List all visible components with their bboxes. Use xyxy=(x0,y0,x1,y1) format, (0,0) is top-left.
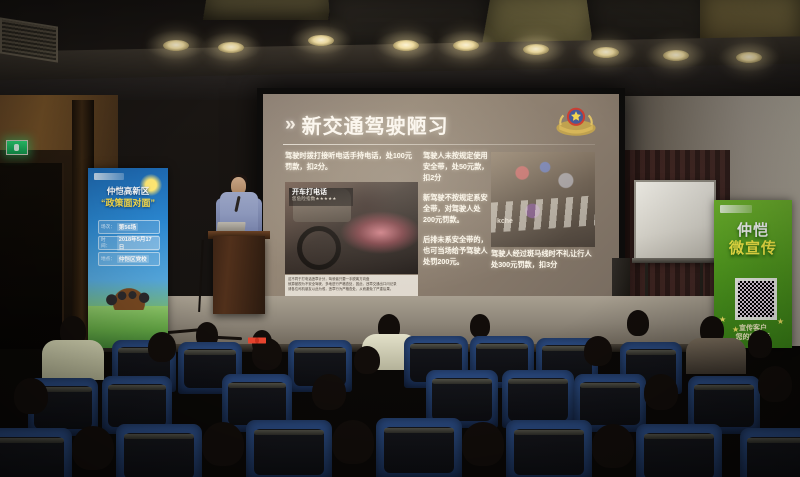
banner-left-title: 仲恺高新区 “政策面对面” xyxy=(88,186,168,210)
banner-field-value: 仲恺区党校 xyxy=(117,255,149,263)
photo-caption-main: 开车打电话 xyxy=(292,189,350,196)
seat-back xyxy=(580,382,639,425)
photo-caption-box: 开车打电话 您危险指数★★★★★ xyxy=(289,188,353,206)
seat-back xyxy=(254,429,325,475)
seat-headrest-band xyxy=(410,344,462,349)
ceiling-light-icon xyxy=(663,50,689,61)
audience-area xyxy=(0,300,800,477)
audience-head xyxy=(592,424,634,468)
seat-headrest-band xyxy=(508,379,567,384)
seat-headrest-band xyxy=(254,430,325,436)
slide-title: 新交通驾驶陋习 xyxy=(302,110,449,139)
ceiling-light-icon xyxy=(453,40,479,51)
photo-caption-sub: 您危险指数★★★★★ xyxy=(292,196,350,203)
slide-column-left: 驾驶时拨打接听电话手持电话，处100元罚款，扣2分。 xyxy=(285,151,418,182)
seat-headrest-band xyxy=(514,430,585,436)
slide-text-seatbelt-2: 新驾驶不按规定系安全带，对驾驶人处200元罚款。 xyxy=(423,193,491,226)
seat-headrest-band xyxy=(124,434,195,440)
banner-field-value: 第56场 xyxy=(117,223,138,231)
audience-head xyxy=(72,426,114,470)
footnote-line: 请各位司机朋友以此为戒，违章行为严格查处，从而避免了严重后果。 xyxy=(288,287,415,292)
audience-head xyxy=(354,346,380,374)
slide-title-divider xyxy=(283,144,595,145)
slide-text-phone-penalty: 驾驶时拨打接听电话手持电话，处100元罚款，扣2分。 xyxy=(285,151,418,173)
banner-field-venue: 地点： 仲恺区党校 xyxy=(98,252,160,266)
photo-watermark: kche xyxy=(497,218,513,225)
audience-head xyxy=(627,310,649,336)
slide-column-right: 驾驶人经过斑马线时不礼让行人处300元罚款，扣3分 xyxy=(491,249,595,280)
banner-field-value: 2018年5月17日 xyxy=(117,235,159,251)
seat-headrest-band xyxy=(432,379,491,384)
seat-headrest-band xyxy=(747,438,800,444)
banner-right-title: 仲恺 微宣传 xyxy=(714,222,792,257)
slide-title-row: ›› 新交通驾驶陋习 xyxy=(285,110,449,139)
seat[interactable] xyxy=(376,418,462,477)
audience-head xyxy=(462,422,504,466)
banner-right-title-line1: 仲恺 xyxy=(714,222,792,240)
projection-screen: ›› 新交通驾驶陋习 驾驶时拨打接听电话手持电话，处100元罚款，扣2分。 xyxy=(257,88,625,314)
banner-field-label: 地点： xyxy=(99,256,117,262)
seat[interactable] xyxy=(116,424,202,477)
banner-field-session: 场次： 第56场 xyxy=(98,220,160,234)
seat-headrest-band xyxy=(228,383,285,388)
audience-head xyxy=(202,422,244,466)
audience-head xyxy=(758,366,792,402)
whiteboard xyxy=(634,180,716,262)
slide-photo-phone-driver: 开车打电话 您危险指数★★★★★ xyxy=(285,182,418,274)
audience-head xyxy=(470,314,490,338)
audience-head xyxy=(584,336,612,366)
seat-back xyxy=(508,378,567,421)
audience-shoulders xyxy=(42,340,104,380)
seat-headrest-band xyxy=(294,348,346,353)
auditorium-photo: ›› 新交通驾驶陋习 驾驶时拨打接听电话手持电话，处100元罚款，扣2分。 xyxy=(0,0,800,477)
chevron-right-icon: ›› xyxy=(285,114,294,136)
banner-left-title-line2: “政策面对面” xyxy=(88,197,168,209)
seat[interactable] xyxy=(506,420,592,477)
seat-headrest-band xyxy=(384,428,455,434)
ceiling-light-icon xyxy=(308,35,334,46)
audience-head xyxy=(312,374,346,410)
ceiling-light-icon xyxy=(163,40,189,51)
seat-back xyxy=(432,378,491,421)
china-police-badge-icon xyxy=(555,104,597,138)
slide-column-middle: 驾驶人未按规定使用安全带，处50元款，扣2分 新驾驶不按规定系安全带，对驾驶人处… xyxy=(423,151,491,276)
audience-head xyxy=(14,378,48,414)
seat-headrest-band xyxy=(694,385,753,390)
audience-head xyxy=(332,420,374,464)
banner-logo xyxy=(94,173,124,180)
seat-back xyxy=(228,382,285,425)
slide-photo-footnote: 这不同于打电话违章计分，驾驶者只要一手脱离方向盘 就算被视为不安全驾驶，多地进行… xyxy=(285,275,418,297)
seat-back xyxy=(384,427,455,473)
slide-text-crosswalk-penalty: 驾驶人经过斑马线时不礼让行人处300元罚款，扣3分 xyxy=(491,249,595,271)
seat-headrest-band xyxy=(626,350,677,355)
audience-head xyxy=(644,374,678,410)
banner-logo xyxy=(720,205,752,213)
ceiling-light-icon xyxy=(523,44,549,55)
slide-photo-crosswalk: kche xyxy=(491,152,595,247)
ceiling-panel xyxy=(203,0,332,20)
seat-back xyxy=(644,433,715,477)
seat-headrest-band xyxy=(108,385,165,390)
seat[interactable] xyxy=(740,428,800,477)
banner-field-label: 时间： xyxy=(99,237,117,249)
banner-field-label: 场次： xyxy=(99,224,117,230)
banner-right-title-line2: 微宣传 xyxy=(714,240,792,258)
crosswalk-stripes-graphic xyxy=(491,195,595,232)
hair-bow xyxy=(248,336,266,345)
seat-back xyxy=(108,384,165,427)
seat[interactable] xyxy=(636,424,722,477)
slide-text-seatbelt-1: 驾驶人未按规定使用安全带，处50元款，扣2分 xyxy=(423,151,491,184)
seat[interactable] xyxy=(246,420,332,477)
ceiling-light-icon xyxy=(736,52,762,63)
steering-wheel-icon xyxy=(297,226,341,270)
seat-headrest-band xyxy=(476,344,528,349)
ceiling-light-icon xyxy=(393,40,419,51)
projected-slide: ›› 新交通驾驶陋习 驾驶时拨打接听电话手持电话，处100元罚款，扣2分。 xyxy=(263,94,619,308)
seat-back xyxy=(694,384,753,427)
seat-headrest-band xyxy=(580,383,639,388)
audience-head xyxy=(748,330,772,358)
slide-text-seatbelt-3: 后排未系安全带的，也可当场给予驾驶人处罚200元。 xyxy=(423,235,491,268)
audience-head xyxy=(148,332,176,362)
ceiling-light-icon xyxy=(218,42,244,53)
seat-headrest-band xyxy=(184,350,236,355)
seat-back xyxy=(124,433,195,477)
seat-headrest-band xyxy=(0,438,64,444)
audience-shoulders xyxy=(686,338,746,374)
seat-back xyxy=(514,429,585,475)
ceiling-light-icon xyxy=(593,47,619,58)
banner-field-date: 时间： 2018年5月17日 xyxy=(98,236,160,250)
seat[interactable] xyxy=(0,428,72,477)
seat-headrest-band xyxy=(644,434,715,440)
banner-left-title-line1: 仲恺高新区 xyxy=(88,186,168,197)
emergency-exit-sign-icon xyxy=(6,140,28,155)
